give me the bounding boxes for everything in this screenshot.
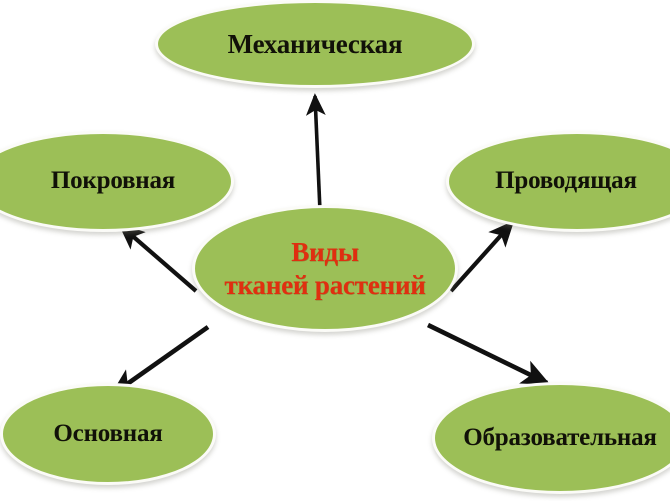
- node-main-label: Основная: [53, 421, 162, 447]
- node-center-label-line2: тканей растений: [224, 269, 425, 302]
- node-conducting-label: Проводящая: [495, 168, 659, 194]
- arrow-center-to-mechanical: [315, 96, 320, 211]
- node-covering[interactable]: Покровная: [0, 131, 234, 232]
- node-mechanical-label: Механическая: [228, 30, 403, 58]
- diagram-canvas: Механическая Покровная Проводящая Виды т…: [0, 0, 670, 501]
- node-center-plant-tissue-types[interactable]: Виды тканей растений: [192, 205, 458, 332]
- node-center-label: Виды тканей растений: [224, 236, 425, 302]
- arrow-center-to-educational: [428, 325, 547, 383]
- arrow-center-to-covering: [121, 226, 196, 291]
- node-center-label-line1: Виды: [291, 237, 359, 267]
- node-main[interactable]: Основная: [0, 383, 216, 485]
- arrow-center-to-conducting: [451, 223, 512, 291]
- node-educational-label: Образовательная: [463, 425, 657, 451]
- node-mechanical[interactable]: Механическая: [155, 0, 475, 88]
- node-covering-label: Покровная: [31, 168, 175, 194]
- node-conducting[interactable]: Проводящая: [446, 131, 670, 232]
- node-educational[interactable]: Образовательная: [432, 382, 670, 494]
